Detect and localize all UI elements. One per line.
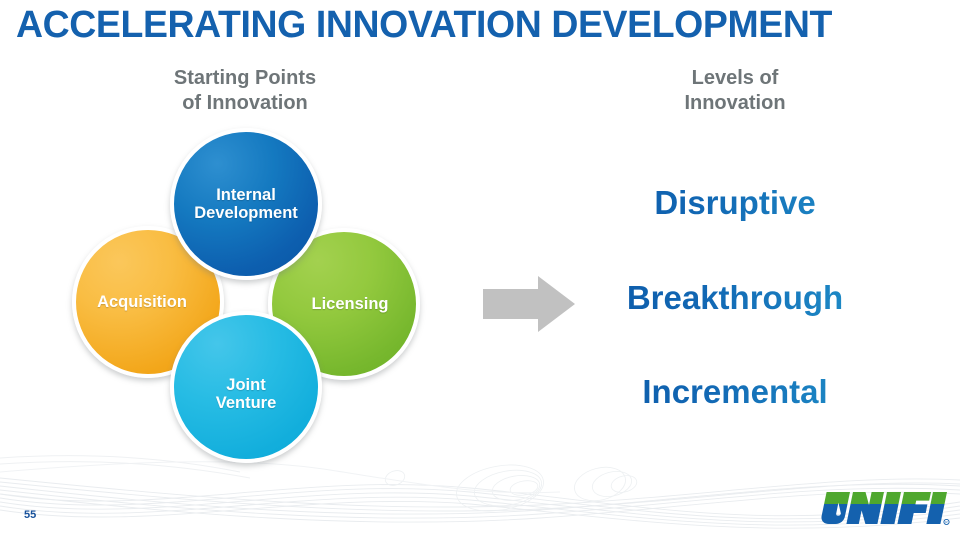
level-item-breakthrough: Breakthrough — [555, 279, 915, 317]
starting-points-diagram: Acquisition Licensing Joint Venture Inte… — [60, 128, 440, 468]
bubble-internal-development[interactable]: Internal Development — [170, 128, 322, 280]
bubble-internal-development-label: Internal Development — [194, 186, 298, 223]
heading-starting-points: Starting Points of Innovation — [120, 66, 370, 116]
heading-levels-of-innovation: Levels of Innovation — [615, 66, 855, 116]
level-item-disruptive: Disruptive — [555, 184, 915, 222]
bubble-joint-venture-label: Joint Venture — [216, 376, 277, 413]
level-item-incremental: Incremental — [555, 373, 915, 411]
bubble-acquisition-label: Acquisition — [97, 293, 187, 311]
page-title: ACCELERATING INNOVATION DEVELOPMENT — [16, 2, 934, 48]
slide-canvas: ACCELERATING INNOVATION DEVELOPMENT Star… — [0, 0, 960, 540]
bubble-licensing-label: Licensing — [311, 295, 388, 313]
bubble-joint-venture[interactable]: Joint Venture — [170, 311, 322, 463]
unifi-logo: R — [820, 486, 950, 530]
page-number: 55 — [24, 509, 36, 521]
